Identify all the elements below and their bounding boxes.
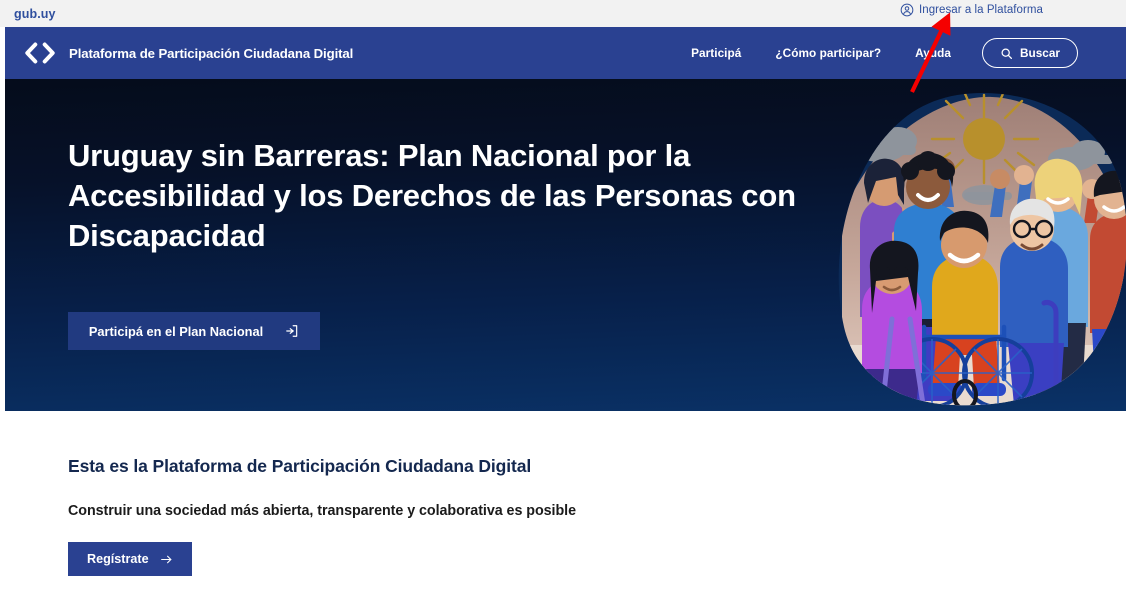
code-chevrons-icon xyxy=(23,40,57,66)
intro-title: Esta es la Plataforma de Participación C… xyxy=(68,456,531,477)
search-button[interactable]: Buscar xyxy=(982,38,1078,68)
login-link[interactable]: Ingresar a la Plataforma xyxy=(900,3,1043,17)
search-button-label: Buscar xyxy=(1020,46,1060,60)
site-header: Plataforma de Participación Ciudadana Di… xyxy=(5,27,1126,79)
nav-item-ayuda[interactable]: Ayuda xyxy=(898,46,968,60)
nav-item-como-participar[interactable]: ¿Cómo participar? xyxy=(758,46,898,60)
hero-cta-label: Participá en el Plan Nacional xyxy=(89,324,263,339)
user-circle-icon xyxy=(900,3,914,17)
main-navigation: Participá ¿Cómo participar? Ayuda Buscar xyxy=(674,38,1116,68)
login-link-label: Ingresar a la Plataforma xyxy=(919,4,1043,16)
arrow-right-icon xyxy=(160,554,173,565)
register-button[interactable]: Regístrate xyxy=(68,542,192,576)
enter-arrow-icon xyxy=(285,324,299,338)
gubuy-brand-link[interactable]: gub.uy xyxy=(14,7,56,21)
register-button-label: Regístrate xyxy=(87,552,149,566)
site-logo[interactable]: Plataforma de Participación Ciudadana Di… xyxy=(23,40,353,66)
nav-item-participa[interactable]: Participá xyxy=(674,46,758,60)
top-utility-bar: gub.uy Ingresar a la Plataforma xyxy=(0,0,1126,27)
hero-cta-button[interactable]: Participá en el Plan Nacional xyxy=(68,312,320,350)
search-icon xyxy=(1000,47,1013,60)
intro-section: Esta es la Plataforma de Participación C… xyxy=(5,411,1126,589)
hero-banner: Uruguay sin Barreras: Plan Nacional por … xyxy=(5,79,1126,411)
hero-text-block: Uruguay sin Barreras: Plan Nacional por … xyxy=(68,136,858,256)
page-root: gub.uy Ingresar a la Plataforma Platafor… xyxy=(0,0,1126,589)
hero-title: Uruguay sin Barreras: Plan Nacional por … xyxy=(68,136,858,256)
intro-subtitle: Construir una sociedad más abierta, tran… xyxy=(68,503,576,519)
site-logo-title: Plataforma de Participación Ciudadana Di… xyxy=(69,46,353,61)
